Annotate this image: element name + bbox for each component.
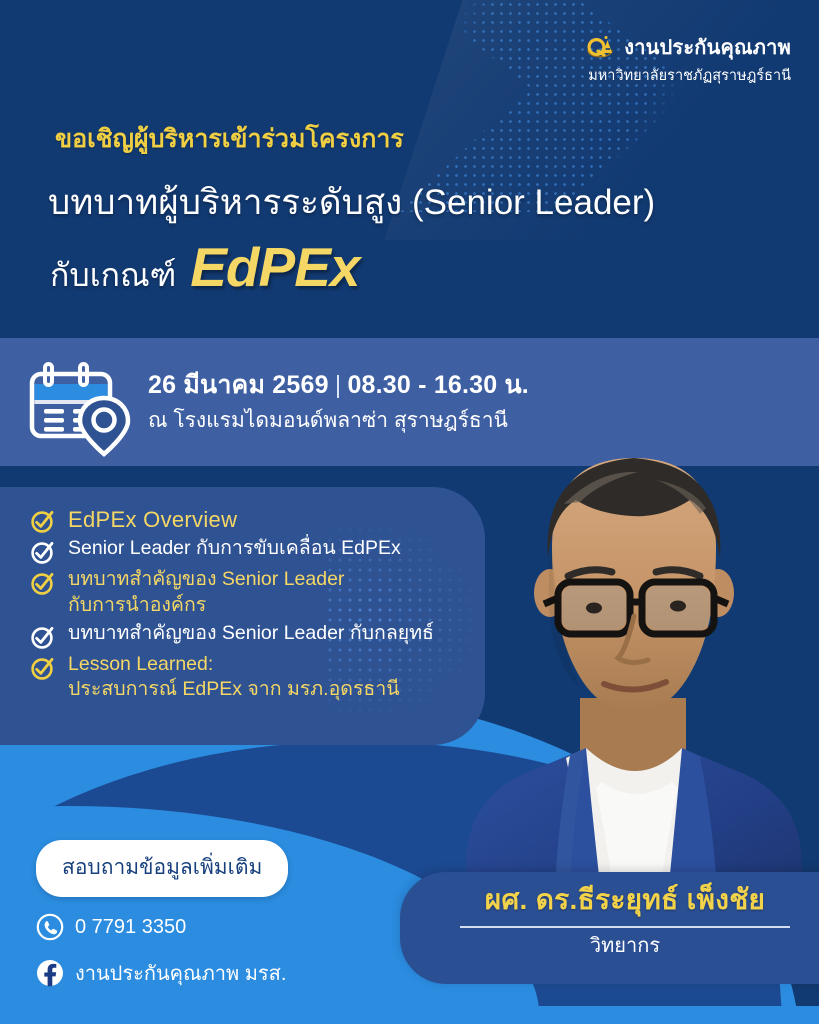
university-name: มหาวิทยาลัยราชภัฏสุราษฎร์ธานี (585, 69, 791, 84)
circle-check-icon (30, 508, 56, 534)
bottom-accent-strip (0, 1006, 819, 1024)
event-venue: ณ โรงแรมไดมอนด์พลาซ่า สุราษฎร์ธานี (148, 407, 529, 434)
datetime-separator: | (329, 371, 348, 399)
speaker-nameplate: ผศ. ดร.ธีระยุทธ์ เพ็งชัย วิทยากร (400, 872, 819, 984)
brand-header: งานประกันคุณภาพ มหาวิทยาลัยราชภัฏสุราษฎร… (585, 34, 791, 84)
phone-number: 0 7791 3350 (75, 916, 186, 939)
event-details: 26 มีนาคม 2569|08.30 - 16.30 น. ณ โรงแรม… (24, 362, 529, 458)
event-datetime: 26 มีนาคม 2569|08.30 - 16.30 น. (148, 370, 529, 401)
event-time: 08.30 - 16.30 น. (347, 371, 529, 399)
phone-icon (36, 913, 64, 941)
facebook-page: งานประกันคุณภาพ มรส. (75, 957, 286, 989)
facebook-icon (36, 959, 64, 987)
qa-monogram-icon (585, 34, 615, 62)
halftone-chevron-decoration (398, 0, 698, 212)
agenda-item-label: บทบาทสำคัญของ Senior Leader กับกลยุทธ์ (68, 621, 434, 647)
phone-contact[interactable]: 0 7791 3350 (36, 913, 366, 941)
agenda-item: บทบาทสำคัญของ Senior Leader กับกลยุทธ์ (30, 621, 500, 650)
more-info-button[interactable]: สอบถามข้อมูลเพิ่มเติม (36, 840, 288, 897)
circle-check-icon (30, 570, 56, 596)
agenda-list: EdPEx Overview Senior Leader กับการขับเค… (30, 505, 500, 705)
calendar-location-icon (24, 362, 134, 458)
agenda-item: EdPEx Overview (30, 505, 500, 534)
circle-check-icon (30, 539, 56, 565)
agenda-item-label: EdPEx Overview (68, 505, 237, 534)
circle-check-icon (30, 655, 56, 681)
speaker-name: ผศ. ดร.ธีระยุทธ์ เพ็งชัย (400, 885, 819, 916)
event-date: 26 มีนาคม 2569 (148, 371, 329, 399)
nameplate-divider (460, 926, 790, 928)
contact-block: สอบถามข้อมูลเพิ่มเติม 0 7791 3350 งานประ… (36, 840, 366, 989)
agenda-item-label: บทบาทสำคัญของ Senior Leader กับการนำองค์… (68, 567, 344, 618)
hero-subtitle-prefix: กับเกณฑ์ (50, 258, 176, 293)
circle-check-icon (30, 624, 56, 650)
agenda-item: Senior Leader กับการขับเคลื่อน EdPEx (30, 536, 500, 565)
event-poster: งานประกันคุณภาพ มหาวิทยาลัยราชภัฏสุราษฎร… (0, 0, 819, 1024)
hero-title: บทบาทผู้บริหารระดับสูง (Senior Leader) (48, 183, 655, 223)
hero-subtitle-brand: EdPEx (190, 240, 359, 295)
hero-subtitle: กับเกณฑ์ EdPEx (50, 240, 360, 295)
organization-name: งานประกันคุณภาพ (624, 38, 791, 58)
agenda-item-label: Senior Leader กับการขับเคลื่อน EdPEx (68, 536, 401, 562)
speaker-role: วิทยากร (400, 936, 819, 956)
agenda-item: Lesson Learned: ประสบการณ์ EdPEx จาก มรภ… (30, 652, 500, 703)
hero-kicker: ขอเชิญผู้บริหารเข้าร่วมโครงการ (55, 126, 404, 154)
agenda-item: บทบาทสำคัญของ Senior Leader กับการนำองค์… (30, 567, 500, 618)
facebook-contact[interactable]: งานประกันคุณภาพ มรส. (36, 957, 366, 989)
agenda-item-label: Lesson Learned: ประสบการณ์ EdPEx จาก มรภ… (68, 652, 400, 703)
